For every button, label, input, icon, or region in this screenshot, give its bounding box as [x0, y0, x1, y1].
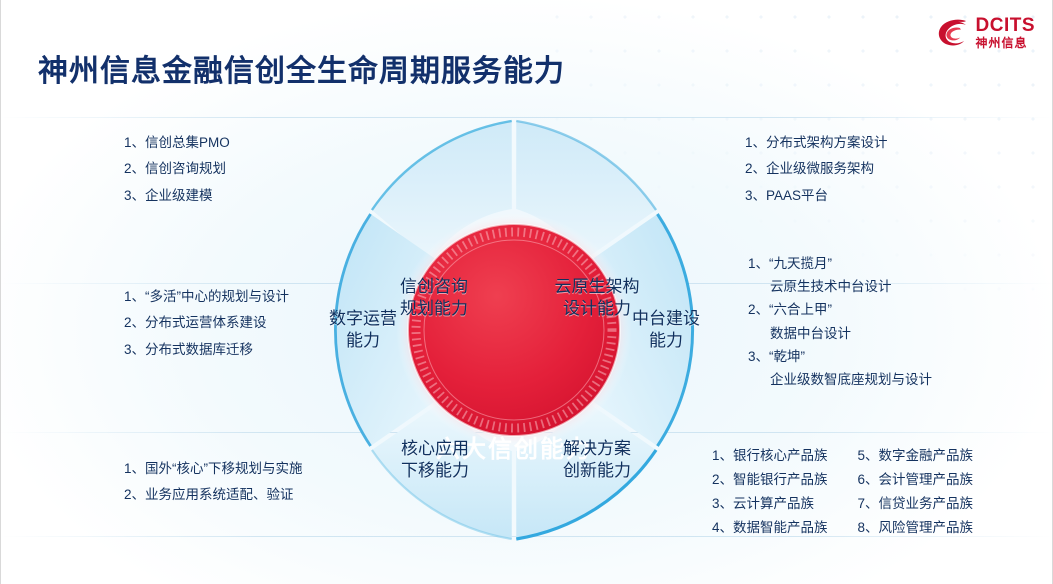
list-item-sub: 企业级数智底座规划与设计 — [748, 368, 932, 391]
list-item: 1、国外“核心”下移规划与实施 — [124, 456, 303, 482]
product-column-1: 1、银行核心产品族 2、智能银行产品族 3、云计算产品族 4、数据智能产品族 — [712, 444, 828, 540]
slide-root: 神州信息金融信创全生命周期服务能力 DCITS 神州信息 — [0, 0, 1053, 584]
logo-text-en: DCITS — [976, 16, 1036, 35]
product-column-2: 5、数字金融产品族 6、会计管理产品族 7、信贷业务产品族 8、风险管理产品族 — [858, 444, 974, 540]
list-item: 1、信创总集PMO — [124, 130, 230, 156]
segment-label-core-app: 核心应用 下移能力 — [370, 438, 500, 482]
list-item: 1、“多活”中心的规划与设计 — [124, 284, 289, 310]
annotation-top-left: 1、信创总集PMO 2、信创咨询规划 3、企业级建模 — [124, 130, 230, 209]
list-item: 2、“六合上甲” — [748, 298, 932, 321]
page-title: 神州信息金融信创全生命周期服务能力 — [38, 46, 565, 90]
list-item: 3、分布式数据库迁移 — [124, 337, 289, 363]
annotation-bottom-right: 1、银行核心产品族 2、智能银行产品族 3、云计算产品族 4、数据智能产品族 5… — [712, 444, 973, 540]
list-item: 1、分布式架构方案设计 — [745, 130, 888, 156]
core-label: 六大信创能力 — [300, 429, 728, 464]
capability-donut-diagram: 六大信创能力 信创咨询 规划能力 云原生架构 设计能力 中台建设 能力 解决方案… — [300, 116, 728, 544]
annotation-middle-right: 1、“九天揽月” 云原生技术中台设计 2、“六合上甲” 数据中台设计 3、“乾坤… — [748, 252, 932, 391]
list-item: 1、银行核心产品族 — [712, 444, 828, 468]
list-item: 3、PAAS平台 — [745, 183, 888, 209]
list-item: 1、“九天揽月” — [748, 252, 932, 275]
list-item: 2、分布式运营体系建设 — [124, 310, 289, 336]
list-item-sub: 云原生技术中台设计 — [748, 275, 932, 298]
logo-text-cn: 神州信息 — [976, 37, 1036, 49]
list-item: 5、数字金融产品族 — [858, 444, 974, 468]
logo-text: DCITS 神州信息 — [976, 16, 1036, 49]
segment-label-digital-ops: 数字运营 能力 — [308, 308, 418, 352]
list-item: 8、风险管理产品族 — [858, 516, 974, 540]
list-item: 3、“乾坤” — [748, 345, 932, 368]
brand-logo: DCITS 神州信息 — [936, 16, 1036, 49]
annotation-top-right: 1、分布式架构方案设计 2、企业级微服务架构 3、PAAS平台 — [745, 130, 888, 209]
list-item: 6、会计管理产品族 — [858, 468, 974, 492]
list-item: 3、云计算产品族 — [712, 492, 828, 516]
list-item: 2、智能银行产品族 — [712, 468, 828, 492]
segment-label-midplatform: 中台建设 能力 — [612, 308, 720, 352]
list-item: 3、企业级建模 — [124, 183, 230, 209]
list-item: 2、企业级微服务架构 — [745, 156, 888, 182]
list-item: 7、信贷业务产品族 — [858, 492, 974, 516]
core-circle — [408, 224, 620, 436]
list-item-sub: 数据中台设计 — [748, 322, 932, 345]
annotation-bottom-left: 1、国外“核心”下移规划与实施 2、业务应用系统适配、验证 — [124, 456, 303, 509]
dcits-swirl-icon — [936, 17, 970, 49]
segment-label-solution: 解决方案 创新能力 — [532, 438, 662, 482]
annotation-middle-left: 1、“多活”中心的规划与设计 2、分布式运营体系建设 3、分布式数据库迁移 — [124, 284, 289, 363]
frame-edge-left — [0, 0, 1, 584]
list-item: 2、信创咨询规划 — [124, 156, 230, 182]
list-item: 4、数据智能产品族 — [712, 516, 828, 540]
list-item: 2、业务应用系统适配、验证 — [124, 482, 303, 508]
